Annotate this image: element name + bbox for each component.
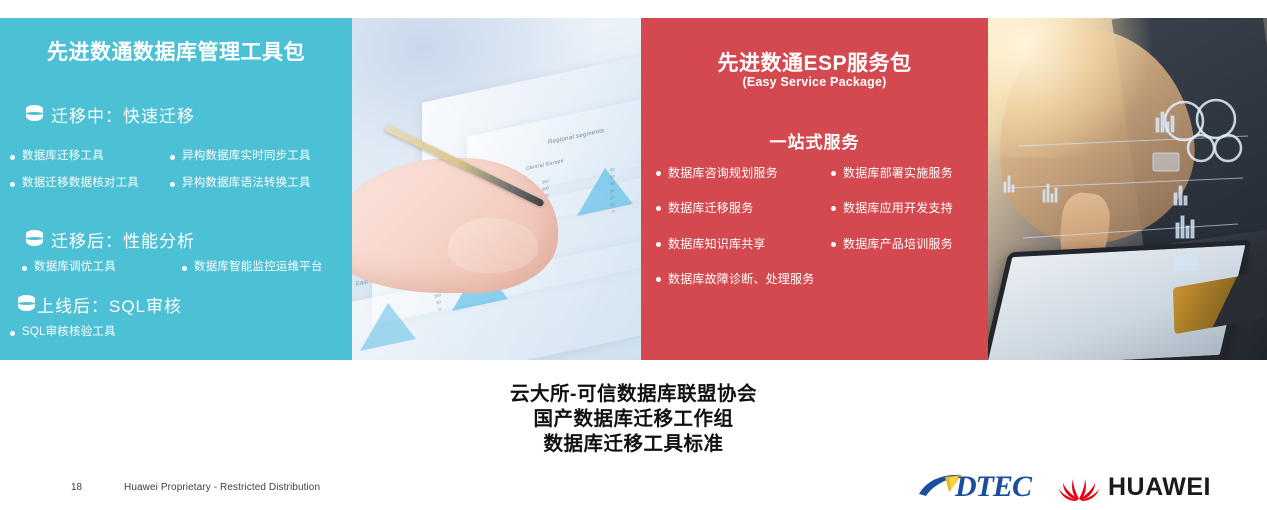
bottom-title-line-3: 数据库迁移工具标准: [0, 432, 1267, 457]
red-info-panel: 先进数通ESP服务包 (Easy Service Package) 一站式服务 …: [641, 18, 988, 360]
huawei-wordmark: HUAWEI: [1108, 473, 1211, 502]
list-item-label: 数据库应用开发支持: [843, 201, 953, 215]
list-item-label: 数据库调优工具: [34, 261, 116, 275]
bullet-dot: [831, 206, 836, 211]
bullet-dot: [831, 171, 836, 176]
bullet-dot: [170, 155, 175, 160]
middle-photo: Regional segments Central Europe West Eu…: [352, 18, 641, 360]
list-item-label: 数据库知识库共享: [668, 237, 766, 251]
bullet-dot: [170, 182, 175, 187]
list-item: 数据库故障诊断、处理服务: [656, 272, 988, 286]
list-item: 数据库迁移工具: [10, 150, 170, 164]
teal-section-3-heading: 上线后：SQL审核: [18, 292, 182, 317]
list-item: 数据库调优工具: [22, 261, 182, 275]
teal-section-1-heading: 迁移中：快速迁移: [26, 102, 195, 127]
teal-section-2-label: 迁移后：性能分析: [51, 227, 195, 252]
banner-strip: 先进数通数据库管理工具包 迁移中：快速迁移 数据库迁移工具 异构数据库实时同步工…: [0, 18, 1267, 360]
bullet-dot: [10, 331, 15, 336]
bullet-dot: [656, 206, 661, 211]
teal-section-2-heading: 迁移后：性能分析: [26, 227, 195, 252]
list-item-label: 数据库部署实施服务: [843, 166, 953, 180]
page-number: 18: [71, 482, 82, 493]
list-item-label: 数据库故障诊断、处理服务: [668, 272, 814, 286]
teal-info-panel: 先进数通数据库管理工具包 迁移中：快速迁移 数据库迁移工具 异构数据库实时同步工…: [0, 18, 352, 360]
hand-photo: [352, 158, 558, 293]
bullet-dot: [656, 242, 661, 247]
list-item: 数据库咨询规划服务: [656, 166, 831, 180]
database-icon: [26, 105, 43, 125]
list-item-label: 异构数据库实时同步工具: [182, 150, 311, 164]
bullet-dot: [656, 171, 661, 176]
red-panel-title: 先进数通ESP服务包: [641, 47, 988, 77]
bottom-title-line-1: 云大所-可信数据库联盟协会: [0, 382, 1267, 407]
list-item-label: SQL审核核验工具: [22, 326, 116, 340]
teal-panel-title: 先进数通数据库管理工具包: [0, 41, 352, 64]
dtec-logo: DTEC: [917, 470, 1031, 504]
database-icon: [26, 230, 43, 250]
list-item: 数据迁移数据核对工具: [10, 177, 170, 191]
list-item: 数据库迁移服务: [656, 201, 831, 215]
bottom-title-line-2: 国产数据库迁移工作组: [0, 407, 1267, 432]
list-item: 数据库产品培训服务: [831, 237, 988, 251]
confidentiality-note: Huawei Proprietary - Restricted Distribu…: [124, 482, 320, 493]
huawei-flower-icon: [1058, 472, 1100, 502]
red-panel-heading: 一站式服务: [641, 128, 988, 153]
teal-section-3-list: SQL审核核验工具: [10, 326, 350, 340]
bullet-dot: [656, 277, 661, 282]
teal-section-3-label: 上线后：SQL审核: [37, 292, 182, 317]
dtec-wordmark: DTEC: [955, 470, 1031, 504]
list-item: 数据库应用开发支持: [831, 201, 988, 215]
list-item-label: 数据库迁移服务: [668, 201, 753, 215]
data-overlay-graphics: [988, 18, 1267, 360]
bullet-dot: [182, 266, 187, 271]
list-item-label: 数据库产品培训服务: [843, 237, 953, 251]
list-item-label: 数据库咨询规划服务: [668, 166, 778, 180]
list-item: 异构数据库语法转换工具: [170, 177, 350, 191]
list-item-label: 异构数据库语法转换工具: [182, 177, 311, 191]
huawei-logo: HUAWEI: [1058, 470, 1211, 504]
slide-canvas: 先进数通数据库管理工具包 迁移中：快速迁移 数据库迁移工具 异构数据库实时同步工…: [0, 0, 1267, 510]
bullet-dot: [22, 266, 27, 271]
teal-section-1-label: 迁移中：快速迁移: [51, 102, 195, 127]
list-item: 异构数据库实时同步工具: [170, 150, 350, 164]
list-item: 数据库智能监控运维平台: [182, 261, 352, 275]
list-item-label: 数据迁移数据核对工具: [22, 177, 139, 191]
bullet-dot: [10, 182, 15, 187]
teal-section-2-list: 数据库调优工具 数据库智能监控运维平台: [22, 261, 352, 275]
teal-section-1-list: 数据库迁移工具 异构数据库实时同步工具 数据迁移数据核对工具 异构数据库语法转换…: [10, 150, 350, 191]
database-icon: [18, 295, 35, 315]
list-item: 数据库知识库共享: [656, 237, 831, 251]
right-photo: [988, 18, 1267, 360]
red-panel-list: 数据库咨询规划服务 数据库部署实施服务 数据库迁移服务 数据库应用开发支持 数据…: [656, 166, 988, 287]
bullet-dot: [831, 242, 836, 247]
list-item-label: 数据库迁移工具: [22, 150, 104, 164]
red-panel-subtitle: (Easy Service Package): [641, 75, 988, 89]
list-item: SQL审核核验工具: [10, 326, 350, 340]
bottom-title-block: 云大所-可信数据库联盟协会 国产数据库迁移工作组 数据库迁移工具标准: [0, 382, 1267, 457]
photo-axis-ticks: 6050403020100: [610, 166, 614, 216]
bullet-dot: [10, 155, 15, 160]
list-item: 数据库部署实施服务: [831, 166, 988, 180]
list-item-label: 数据库智能监控运维平台: [194, 261, 323, 275]
